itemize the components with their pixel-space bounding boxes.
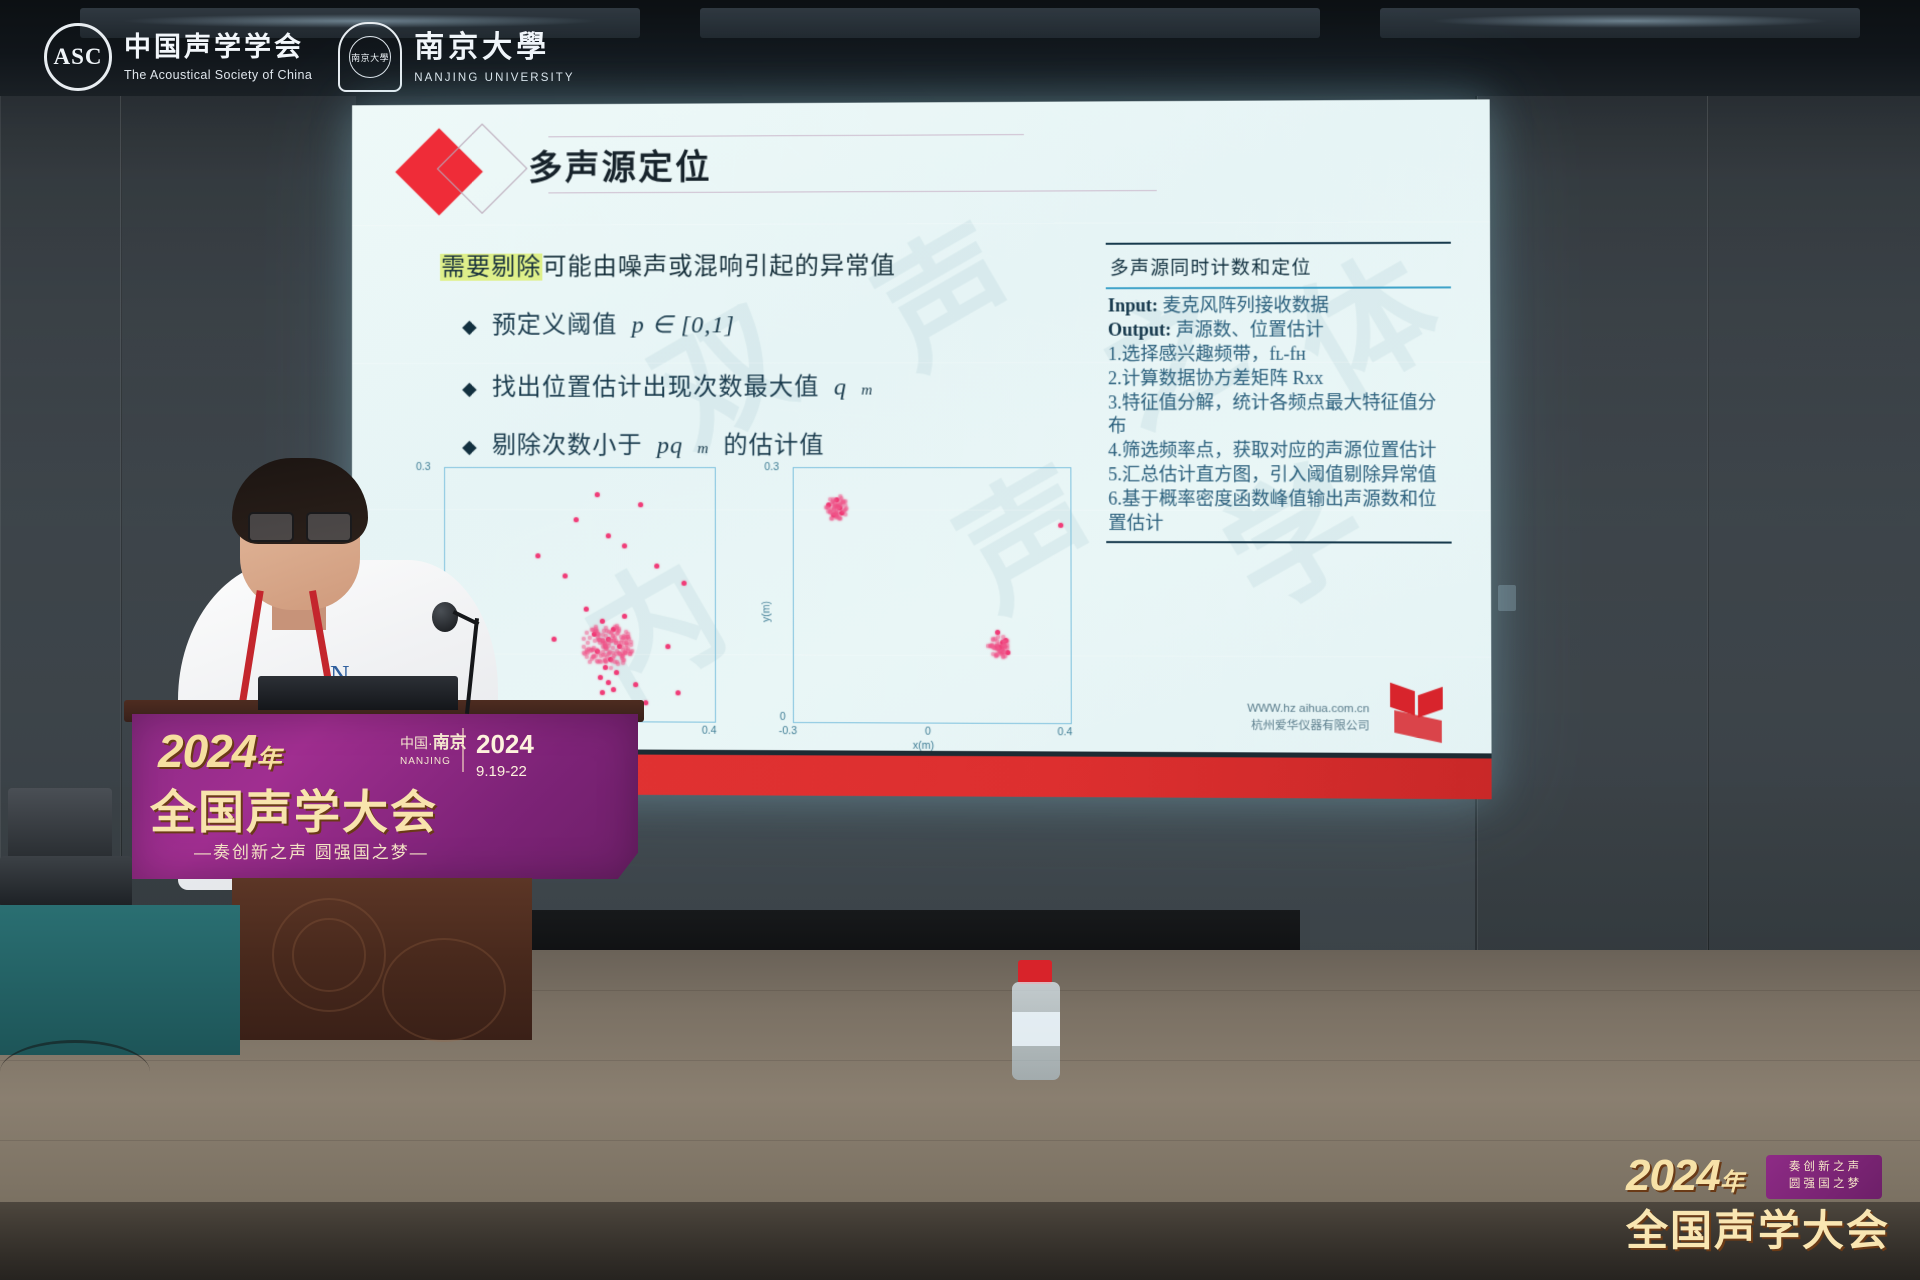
slide-title: 多声源定位: [528, 140, 712, 190]
algorithm-output-value: 声源数、位置估计: [1176, 319, 1324, 340]
data-point: [606, 680, 611, 685]
algorithm-input-value: 麦克风阵列接收数据: [1163, 295, 1329, 316]
watermark-badge-line1: 奏 创 新 之 声: [1766, 1159, 1882, 1176]
glasses-icon: [248, 512, 352, 538]
data-point: [842, 508, 846, 512]
data-point: [622, 614, 627, 619]
watermark-badge: 奏 创 新 之 声 圆 强 国 之 梦: [1766, 1155, 1882, 1199]
slide-canvas: 双 声 之 体 内 声 学 多声源定位 需要剔除可能由噪声或混响引起的异常值: [352, 99, 1492, 799]
banner-slogan: —奏创新之声 圆强国之梦—: [194, 838, 429, 863]
asc-name-cn: 中国声学学会: [124, 31, 312, 65]
ceiling-strip: [700, 8, 1320, 38]
podium-banner: 2024年 全国声学大会 —奏创新之声 圆强国之梦— 中国·南京 NANJING…: [132, 714, 638, 879]
bullet-diamond-icon: ◆: [462, 436, 478, 459]
lead-highlight: 需要剔除: [440, 254, 542, 281]
data-point: [581, 645, 585, 649]
watermark-badge-line2: 圆 强 国 之 梦: [1766, 1176, 1882, 1193]
asc-emblem-icon: ASC: [44, 23, 112, 91]
data-point: [601, 632, 605, 636]
banner-date: 2024 9.19-22: [476, 728, 534, 781]
wall-fixture-icon: [1498, 585, 1516, 611]
equipment-case: [0, 856, 132, 908]
bullet-1-math: p ∈ [0,1]: [632, 310, 736, 339]
data-point: [552, 636, 557, 641]
bullet-2-math-sub: m: [861, 382, 873, 399]
title-rule-bottom: [548, 190, 1156, 194]
data-point: [562, 573, 567, 578]
data-point: [991, 645, 995, 649]
banner-year: 2024年: [158, 724, 280, 778]
data-point: [607, 651, 611, 655]
bullet-1-text: 预定义阈值: [492, 304, 618, 339]
asc-logo: ASC 中国声学学会 The Acoustical Society of Chi…: [44, 23, 312, 91]
x-tick-min: -0.3: [779, 725, 797, 737]
slide-footer: WWW.hz aihua.com.cn 杭州爱华仪器有限公司: [1247, 700, 1369, 736]
data-point: [996, 635, 1000, 639]
watermark-title: 全国声学大会: [1626, 1197, 1890, 1258]
algorithm-panel: 多声源同时计数和定位 Input: 麦克风阵列接收数据 Output: 声源数、…: [1106, 242, 1452, 544]
wall-panel: [1707, 96, 1920, 956]
title-rule-top: [548, 134, 1024, 138]
nju-name-en: NANJING UNIVERSITY: [414, 71, 574, 85]
bullet-2-math: q: [834, 374, 847, 401]
bullet-3-text-post: 的估计值: [723, 425, 824, 460]
projection-screen: 双 声 之 体 内 声 学 多声源定位 需要剔除可能由噪声或混响引起的异常值: [352, 99, 1492, 799]
data-point: [585, 641, 589, 645]
banner-location-en: NANJING: [400, 755, 467, 769]
water-bottle: [1010, 960, 1062, 1080]
data-point: [609, 639, 613, 643]
bullet-2-text: 找出位置估计出现次数最大值: [492, 366, 820, 401]
algo-rule-bottom: [1106, 541, 1451, 543]
y-tick-max: 0.3: [416, 461, 431, 473]
x-tick-mid: 0: [925, 726, 931, 738]
side-table: [0, 905, 240, 1055]
data-point: [606, 533, 611, 538]
microphone-head-icon: [432, 602, 458, 632]
data-point: [616, 662, 620, 666]
banner-title: 全国声学大会: [150, 776, 438, 842]
algorithm-input-line: Input: 麦克风阵列接收数据: [1108, 293, 1449, 318]
data-point: [633, 682, 638, 687]
data-point: [588, 635, 592, 639]
banner-location: 中国·南京 NANJING: [400, 732, 467, 768]
data-point: [603, 664, 608, 669]
asc-name-en: The Acoustical Society of China: [124, 68, 312, 84]
slide-title-diamonds: [402, 126, 532, 223]
podium-front-panel: [232, 878, 532, 1040]
footer-company: 杭州爱华仪器有限公司: [1247, 718, 1369, 736]
data-point: [654, 563, 659, 568]
data-point: [610, 659, 614, 663]
data-point: [536, 553, 541, 558]
scatter-plot-right: 0.3 0 -0.3 0 0.4 y(m) x(m): [750, 461, 1086, 732]
nju-emblem-icon: 南京大學: [338, 22, 402, 92]
bullet-3-text-pre: 剔除次数小于: [492, 425, 643, 460]
x-tick-max: 0.4: [1058, 726, 1073, 738]
slide-bullet-3: ◆ 剔除次数小于 pqm 的估计值: [462, 425, 824, 460]
algorithm-step: 1.选择感兴趣频带，fʟ-fʜ: [1108, 342, 1449, 367]
slide-bullet-2: ◆ 找出位置估计出现次数最大值 qm: [462, 366, 873, 402]
data-point: [618, 651, 622, 655]
organisation-logos: ASC 中国声学学会 The Acoustical Society of Chi…: [44, 22, 575, 92]
event-watermark: 奏 创 新 之 声 圆 强 国 之 梦 2024年 全国声学大会: [1626, 1151, 1890, 1258]
footer-url: WWW.hz aihua.com.cn: [1247, 700, 1369, 718]
algorithm-step: 5.汇总估计直方图，引入阈值剔除异常值: [1108, 464, 1449, 488]
x-tick-max: 0.4: [702, 725, 717, 737]
algorithm-step: 6.基于概率密度函数峰值输出声源数和位置估计: [1108, 488, 1449, 537]
bullet-3-math-sub: m: [697, 441, 709, 458]
data-point: [844, 512, 848, 516]
algorithm-output-line: Output: 声源数、位置估计: [1108, 318, 1449, 343]
slide-bullet-1: ◆ 预定义阈值 p ∈ [0,1]: [462, 304, 735, 340]
data-point: [598, 675, 603, 680]
laptop: [258, 676, 458, 710]
screenshot-root: ASC 中国声学学会 The Acoustical Society of Chi…: [0, 0, 1920, 1280]
data-point: [626, 632, 630, 636]
y-tick-max: 0.3: [764, 461, 779, 473]
nju-logo: 南京大學 南京大學 NANJING UNIVERSITY: [338, 22, 574, 92]
algorithm-body: Input: 麦克风阵列接收数据 Output: 声源数、位置估计 1.选择感兴…: [1106, 288, 1452, 536]
company-logo-icon: [1390, 687, 1446, 742]
data-point: [599, 660, 603, 664]
algorithm-input-label: Input:: [1108, 295, 1158, 315]
data-point: [592, 655, 596, 659]
floor-cables: [0, 1040, 150, 1103]
algorithm-heading: 多声源同时计数和定位: [1106, 244, 1451, 287]
nju-name-cn: 南京大學: [414, 29, 574, 67]
wall-panel: [1477, 96, 1709, 956]
algorithm-output-label: Output:: [1108, 319, 1171, 339]
ceiling-light: [1430, 14, 1830, 28]
banner-divider: [462, 728, 464, 772]
lead-rest: 可能由噪声或混响引起的异常值: [542, 252, 896, 280]
data-point: [614, 670, 619, 675]
y-tick-mid: 0: [780, 711, 786, 723]
y-axis-label: y(m): [760, 601, 772, 622]
data-point: [622, 543, 627, 548]
algorithm-step: 4.筛选频率点，获取对应的声源位置估计: [1108, 439, 1449, 463]
algorithm-step: 2.计算数据协方差矩阵 Rxx: [1108, 366, 1449, 391]
data-point: [843, 503, 847, 507]
bullet-diamond-icon: ◆: [462, 316, 478, 339]
data-point: [604, 659, 608, 663]
algorithm-step: 3.特征值分解，统计各频点最大特征值分布: [1108, 391, 1449, 440]
slide-lead-line: 需要剔除可能由噪声或混响引起的异常值: [440, 245, 896, 281]
data-point: [592, 646, 596, 650]
bullet-3-math: pq: [657, 433, 683, 460]
bullet-diamond-icon: ◆: [462, 378, 478, 401]
data-point: [584, 606, 589, 611]
